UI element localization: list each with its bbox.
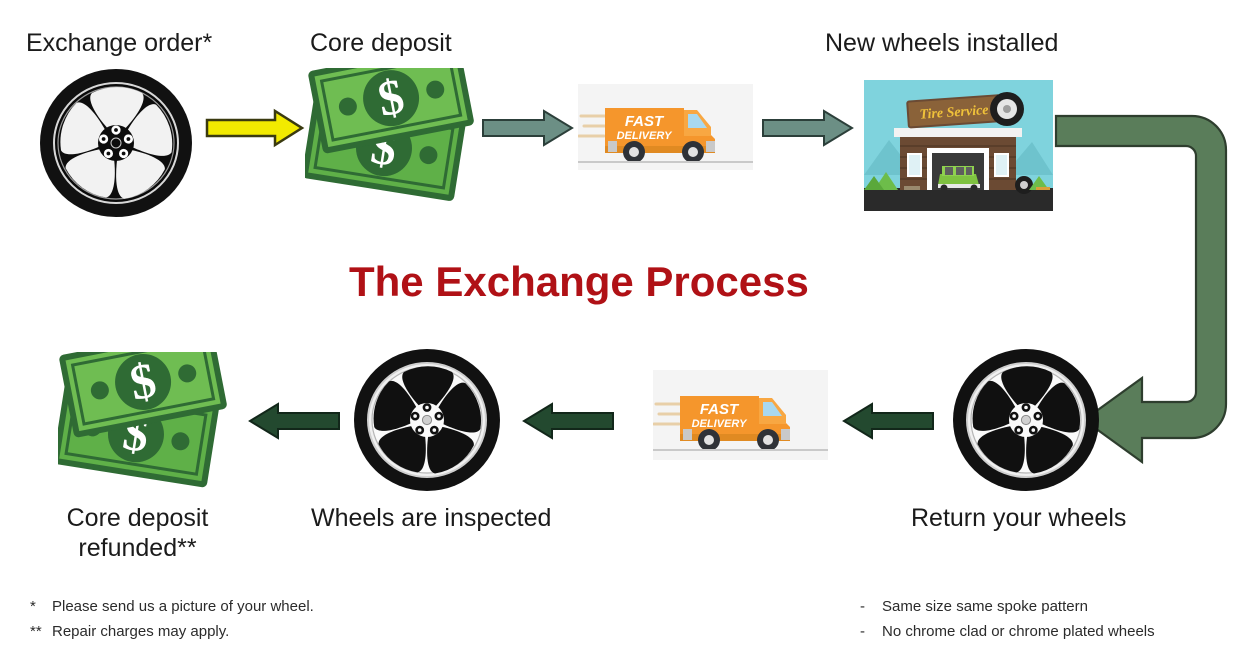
arrow-order-to-deposit <box>205 108 305 148</box>
svg-text:FAST: FAST <box>700 401 740 418</box>
label-return-your-wheels: Return your wheels <box>911 503 1126 533</box>
footnote-right-1-text: Same size same spoke pattern <box>882 598 1088 615</box>
arrow-inspected-to-refund <box>248 403 340 439</box>
footnote-left-2-text: Repair charges may apply. <box>52 623 229 640</box>
svg-text:DELIVERY: DELIVERY <box>617 130 673 142</box>
money-bills-refund-icon: $ $ <box>58 352 238 492</box>
footnote-right-1: -Same size same spoke pattern <box>860 594 1088 620</box>
footnote-left-2-marker: ** <box>30 619 52 645</box>
arrow-return-to-shipping <box>842 403 934 439</box>
footnote-left-2: **Repair charges may apply. <box>30 619 229 645</box>
arrow-shipping-to-install <box>762 110 854 146</box>
money-bills-icon: $ $ <box>305 68 480 208</box>
delivery-truck-return-icon: FAST DELIVERY <box>653 370 828 460</box>
footnote-left-1: *Please send us a picture of your wheel. <box>30 594 314 620</box>
footnote-left-1-marker: * <box>30 594 52 620</box>
label-core-deposit: Core deposit <box>310 28 452 58</box>
arrow-deposit-to-shipping <box>482 110 574 146</box>
arrow-shipping-to-inspected <box>522 403 614 439</box>
wheel-light-rim-inspect-icon <box>352 348 502 493</box>
footnote-right-2: -No chrome clad or chrome plated wheels <box>860 619 1155 645</box>
tire-service-shop-icon: Tire Service <box>864 80 1053 211</box>
label-exchange-order: Exchange order* <box>26 28 212 58</box>
footnote-right-2-text: No chrome clad or chrome plated wheels <box>882 623 1155 640</box>
exchange-process-diagram: Exchange order* Core deposit New wheels … <box>0 0 1250 666</box>
label-wheels-are-inspected: Wheels are inspected <box>311 503 551 533</box>
svg-text:FAST: FAST <box>625 113 665 130</box>
footnote-right-1-marker: - <box>860 594 882 620</box>
label-new-wheels-installed: New wheels installed <box>825 28 1058 58</box>
svg-text:DELIVERY: DELIVERY <box>692 418 748 430</box>
footnote-right-2-marker: - <box>860 619 882 645</box>
page-title: The Exchange Process <box>349 258 809 306</box>
wheel-light-rim-return-icon <box>950 348 1102 493</box>
footnote-left-1-text: Please send us a picture of your wheel. <box>52 598 314 615</box>
label-core-deposit-refunded: Core deposit refunded** <box>30 503 245 563</box>
wheel-dark-rim-icon <box>37 68 195 218</box>
delivery-truck-icon: FAST DELIVERY <box>578 84 753 170</box>
